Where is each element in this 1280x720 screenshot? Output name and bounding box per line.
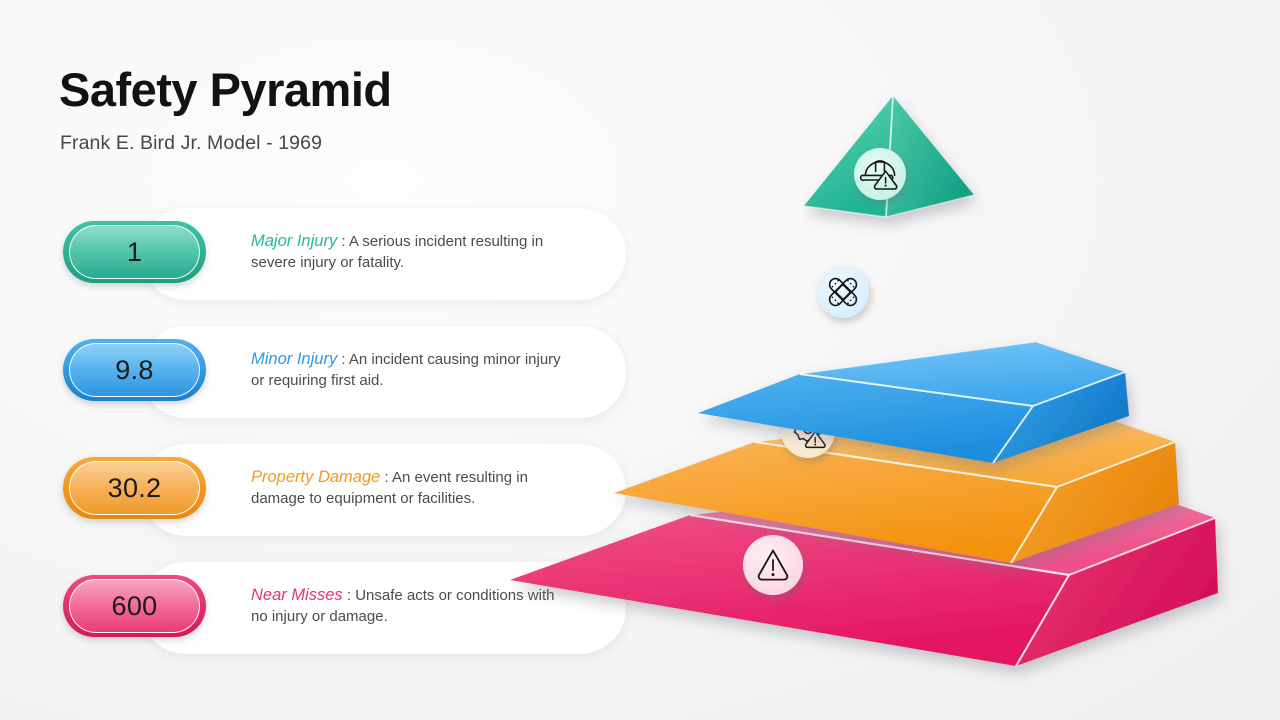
value-badge[interactable]: 30.2 bbox=[63, 457, 206, 519]
item-term: Major Injury bbox=[251, 232, 337, 250]
hard-hat-warning-icon bbox=[854, 148, 906, 200]
item-separator: : bbox=[347, 587, 351, 604]
value-badge[interactable]: 9.8 bbox=[63, 339, 206, 401]
warning-triangle-icon bbox=[743, 535, 803, 595]
item-separator: : bbox=[384, 469, 388, 486]
item-term: Property Damage bbox=[251, 468, 380, 486]
value-badge[interactable]: 600 bbox=[63, 575, 206, 637]
value-badge-label: 30.2 bbox=[108, 473, 162, 504]
item-separator: : bbox=[341, 233, 345, 250]
bandages-icon bbox=[817, 266, 869, 318]
value-badge-label: 9.8 bbox=[115, 355, 153, 386]
page-subtitle: Frank E. Bird Jr. Model - 1969 bbox=[60, 132, 322, 155]
item-term: Near Misses bbox=[251, 586, 343, 604]
value-badge[interactable]: 1 bbox=[63, 221, 206, 283]
item-term: Minor Injury bbox=[251, 350, 337, 368]
value-badge-label: 1 bbox=[127, 237, 142, 268]
page-title: Safety Pyramid bbox=[59, 64, 392, 116]
item-separator: : bbox=[341, 351, 345, 368]
safety-pyramid-graphic bbox=[495, 78, 1255, 688]
value-badge-label: 600 bbox=[112, 591, 158, 622]
